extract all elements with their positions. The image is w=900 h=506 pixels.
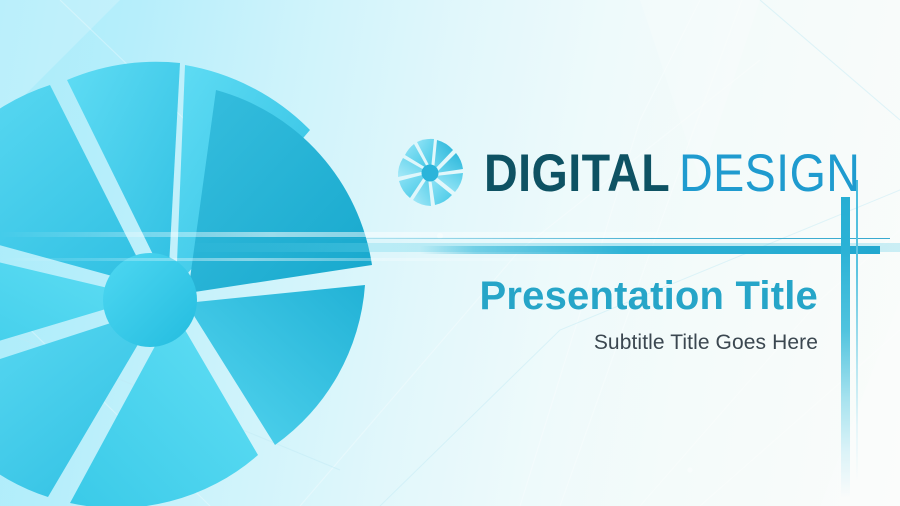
thin-vertical-rule xyxy=(856,180,858,480)
page-subtitle: Subtitle Title Goes Here xyxy=(0,331,818,355)
page-title: Presentation Title xyxy=(0,275,818,318)
thick-horizontal-rule xyxy=(420,246,880,254)
presentation-slide: DIGITAL DESIGN Presentation Title Subtit… xyxy=(0,0,900,506)
brand-wordmark: DIGITAL DESIGN xyxy=(484,147,860,200)
brand-word-secondary: DESIGN xyxy=(679,147,860,200)
title-block: Presentation Title Subtitle Title Goes H… xyxy=(0,275,818,355)
brand-logo-row: DIGITAL DESIGN xyxy=(393,136,900,210)
thick-vertical-rule xyxy=(841,197,850,497)
aperture-graphic xyxy=(0,35,400,506)
brand-word-primary: DIGITAL xyxy=(484,147,670,200)
aperture-shutter-icon xyxy=(393,136,467,210)
